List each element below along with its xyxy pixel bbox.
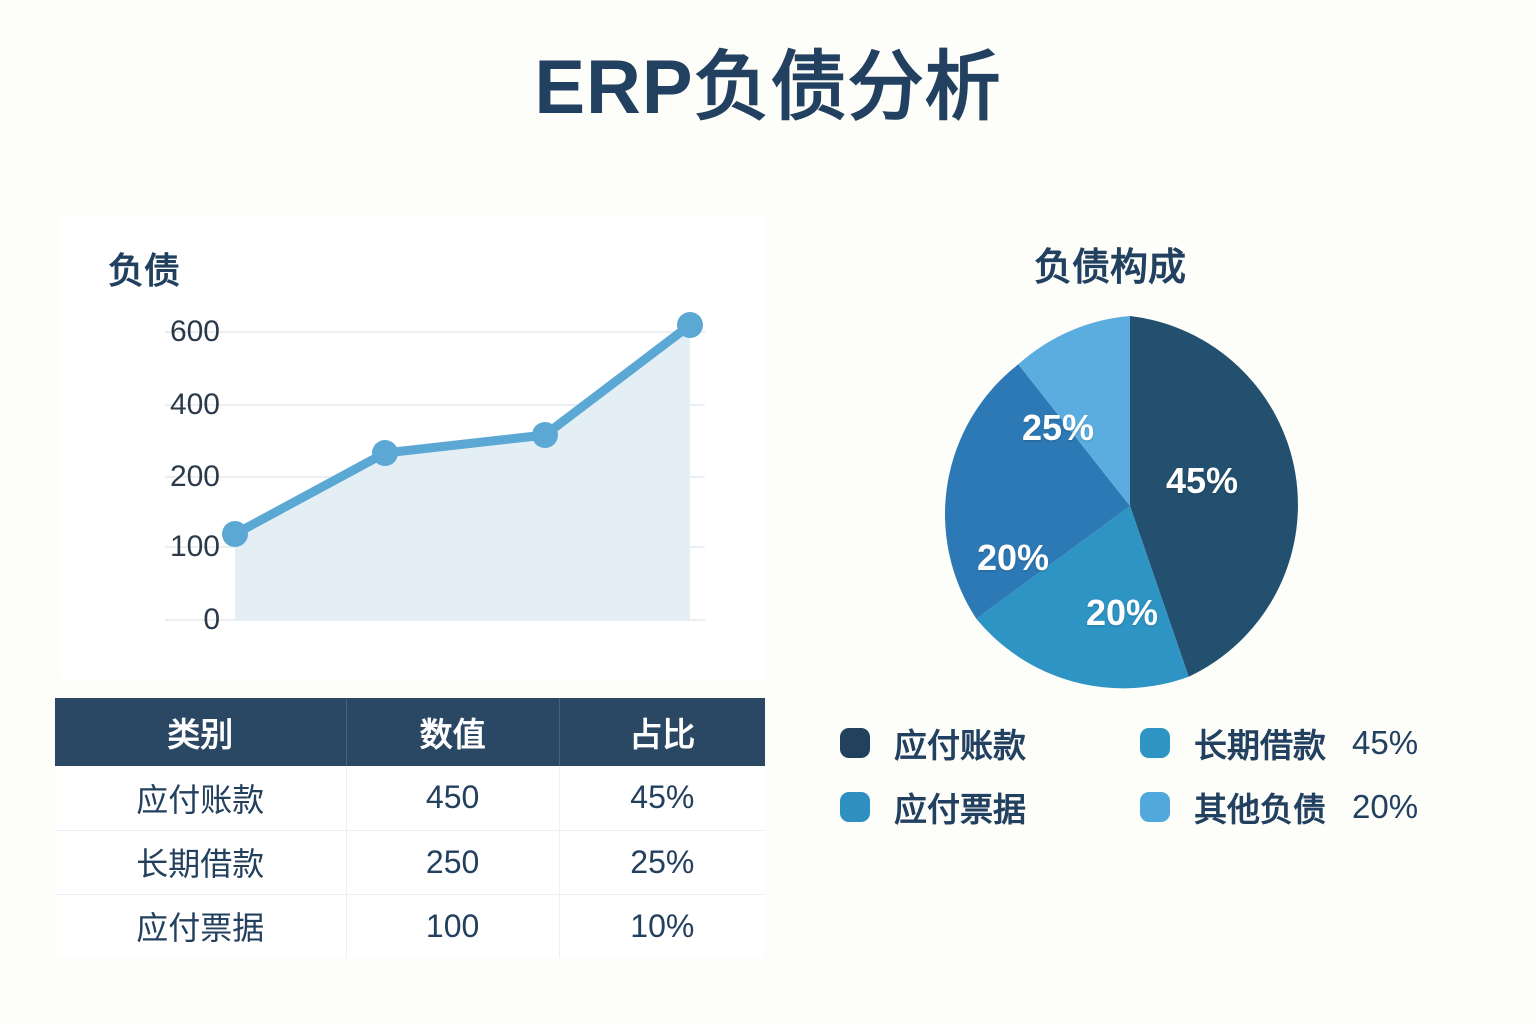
pie-chart-title: 负债构成 [800,236,1420,291]
legend-label: 其他负债 [1194,783,1326,831]
table-cell-percent: 45% [559,766,765,830]
legend-label: 长期借款 [1194,719,1326,767]
table-cell-value: 450 [346,766,559,830]
legend-item-notes-payable[interactable]: 应付票据 [840,783,1140,831]
table-cell-category: 应付账款 [55,766,346,830]
table-cell-percent: 10% [559,894,765,958]
table-cell-value: 250 [346,830,559,894]
legend-swatch-icon [1140,792,1170,822]
table-header-value: 数值 [346,698,559,766]
table-header-percent: 占比 [559,698,765,766]
table-cell-percent: 25% [559,830,765,894]
legend-label: 应付账款 [894,719,1026,767]
liability-table: 类别 数值 占比 应付账款 450 45% 长期借款 250 25% 应付票据 [55,698,765,958]
legend-item-long-term-loans[interactable]: 长期借款 45% [1140,719,1480,767]
table-row: 长期借款 250 25% [55,830,765,894]
y-tick-600: 600 [170,315,220,349]
y-tick-200: 200 [170,460,220,494]
legend-item-other-liabilities[interactable]: 其他负债 20% [1140,783,1480,831]
legend-percent: 20% [1352,788,1418,826]
legend-percent: 45% [1352,724,1418,762]
area-fill [235,325,690,620]
page-title: ERP负债分析 [0,46,1536,130]
pie-chart-svg [930,306,1330,706]
poster-root: ERP负债分析 负债 6 [0,0,1536,1024]
legend-swatch-icon [840,792,870,822]
table-cell-category: 长期借款 [55,830,346,894]
table-row: 应付账款 450 45% [55,766,765,830]
table-cell-category: 应付票据 [55,894,346,958]
legend-swatch-icon [1140,728,1170,758]
table-header-row: 类别 数值 占比 [55,698,765,766]
pie-chart: 45% 20% 20% 25% [930,306,1330,706]
y-tick-100: 100 [170,530,220,564]
legend-swatch-icon [840,728,870,758]
liability-composition-panel: 负债构成 45% 20% 20% 25% 应付账款 [800,216,1490,856]
y-tick-400: 400 [170,388,220,422]
y-axis-ticks: 600 400 200 100 0 [90,216,220,679]
pie-legend: 应付账款 长期借款 45% 应付票据 其他负债 20% [840,711,1480,839]
table-header-category: 类别 [55,698,346,766]
liability-trend-card: 负债 600 400 [60,216,765,679]
y-tick-0: 0 [203,603,220,637]
legend-item-accounts-payable[interactable]: 应付账款 [840,719,1140,767]
table-cell-value: 100 [346,894,559,958]
liability-table-card: 类别 数值 占比 应付账款 450 45% 长期借款 250 25% 应付票据 [55,698,765,958]
legend-label: 应付票据 [894,783,1026,831]
table-row: 应付票据 100 10% [55,894,765,958]
